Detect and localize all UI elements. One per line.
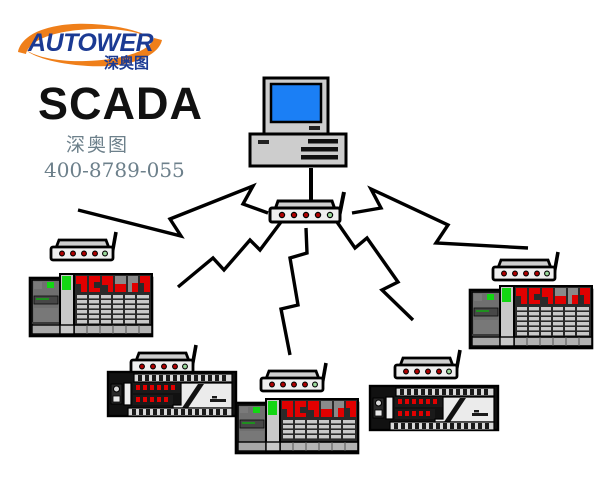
cpu-label-text — [242, 422, 255, 424]
terminal-grid-bg — [516, 306, 590, 336]
io-notch-a1 — [282, 409, 287, 417]
io-notch-a3 — [308, 410, 314, 417]
router-led-1 — [404, 369, 409, 374]
cpu-divider — [472, 334, 500, 336]
brick-face-panel — [173, 383, 232, 408]
cpu-divider — [32, 322, 60, 324]
io-led-a5b — [572, 295, 578, 304]
pc-drive-slot-2 — [301, 147, 338, 152]
pc-power-led — [258, 140, 269, 144]
rack-io-modules — [74, 274, 152, 334]
brick-brand-mark-2 — [212, 396, 217, 398]
brick-square-port — [113, 396, 120, 402]
router-led-3 — [303, 212, 308, 217]
cpu-run-led — [47, 282, 54, 288]
power-led — [502, 288, 511, 302]
scada-workstation[interactable] — [246, 76, 354, 172]
router-led-2 — [281, 382, 286, 387]
cpu-top-block — [240, 407, 248, 413]
router-led-5 — [103, 251, 108, 256]
site-bottom-center-router[interactable] — [258, 363, 340, 401]
io-notch-a6 — [346, 408, 350, 417]
central-wireless-router[interactable] — [266, 192, 358, 232]
router-led-2 — [513, 271, 518, 276]
site-bottom-left-plc-brick[interactable] — [106, 368, 238, 420]
router-led-5 — [313, 382, 318, 387]
io-notch-a6 — [580, 295, 584, 304]
brick-square-port — [375, 410, 382, 416]
brick-slot-cover — [124, 383, 131, 405]
wireless-link-left — [78, 186, 268, 236]
router-led-4 — [315, 212, 320, 217]
io-led-a5b — [132, 283, 138, 292]
pc-drive-slot-3 — [301, 155, 338, 160]
cpu-run-led — [487, 294, 494, 300]
rack-bottom-power-rail — [266, 442, 280, 451]
router-led-1 — [60, 251, 65, 256]
pc-drive-slot-1 — [308, 139, 338, 144]
router-led-2 — [291, 212, 296, 217]
io-led-a4b — [555, 296, 566, 304]
router-led-2 — [415, 369, 420, 374]
site-right-plc-rack[interactable] — [468, 284, 594, 350]
monitor-indicator — [309, 126, 320, 130]
router-led-2 — [71, 251, 76, 256]
monitor-screen — [271, 84, 321, 122]
power-led — [268, 401, 277, 415]
cpu-label-text — [476, 310, 489, 312]
router-led-1 — [270, 382, 275, 387]
rack-bottom-left-rail — [238, 442, 266, 451]
brick-round-port — [376, 400, 382, 406]
io-led-a4b — [321, 409, 332, 417]
brick-brand-mark — [210, 399, 226, 402]
router-led-1 — [502, 271, 507, 276]
rack-bottom-left-rail — [32, 325, 60, 334]
site-bottom-right-plc-brick[interactable] — [368, 382, 500, 434]
cpu-top-block — [474, 294, 482, 301]
io-notch-a3 — [542, 297, 548, 304]
cpu-label-text — [36, 298, 49, 300]
cpu-run-led — [253, 407, 260, 413]
brick-round-port — [114, 386, 120, 392]
io-led-a5b — [338, 408, 344, 417]
rack-bottom-power-rail — [500, 337, 514, 346]
brick-slot-cover — [386, 397, 393, 419]
brick-brand-mark-2 — [474, 410, 479, 412]
site-left-router[interactable] — [48, 232, 130, 270]
router-led-3 — [524, 271, 529, 276]
router-led-4 — [303, 382, 308, 387]
router-led-5 — [545, 271, 550, 276]
router-led-4 — [437, 369, 442, 374]
io-notch-a1 — [76, 284, 81, 292]
wireless-link-bottom-center — [281, 228, 307, 355]
io-notch-a2 — [300, 407, 306, 413]
brick-brand-mark — [472, 413, 488, 416]
rack-bottom-power-rail — [60, 325, 74, 334]
router-led-5 — [327, 212, 332, 217]
rack-io-modules — [514, 286, 592, 346]
router-led-1 — [279, 212, 284, 217]
rack-io-modules — [280, 399, 358, 451]
brick-face-panel — [435, 397, 494, 422]
diagram-canvas: AUTOWER 深奥图 SCADA 深奥图 400-8789-055 — [0, 0, 600, 480]
router-led-4 — [535, 271, 540, 276]
wireless-link-bottom-right — [337, 222, 413, 320]
rack-bottom-left-rail — [472, 337, 500, 346]
router-led-3 — [82, 251, 87, 256]
wireless-link-right — [352, 189, 528, 248]
router-led-3 — [426, 369, 431, 374]
router-led-5 — [447, 369, 452, 374]
cpu-top-block — [34, 282, 42, 289]
io-notch-a3 — [102, 285, 108, 292]
io-notch-a2 — [534, 294, 540, 300]
router-led-4 — [93, 251, 98, 256]
site-bottom-center-plc-rack[interactable] — [234, 398, 360, 456]
power-led — [62, 276, 71, 290]
site-left-plc-rack[interactable] — [28, 272, 154, 338]
io-notch-a6 — [140, 283, 144, 292]
io-led-a4b — [115, 284, 126, 292]
io-notch-a1 — [516, 296, 521, 304]
terminal-grid-bg — [76, 294, 150, 324]
io-notch-a2 — [94, 282, 100, 288]
router-led-3 — [292, 382, 297, 387]
